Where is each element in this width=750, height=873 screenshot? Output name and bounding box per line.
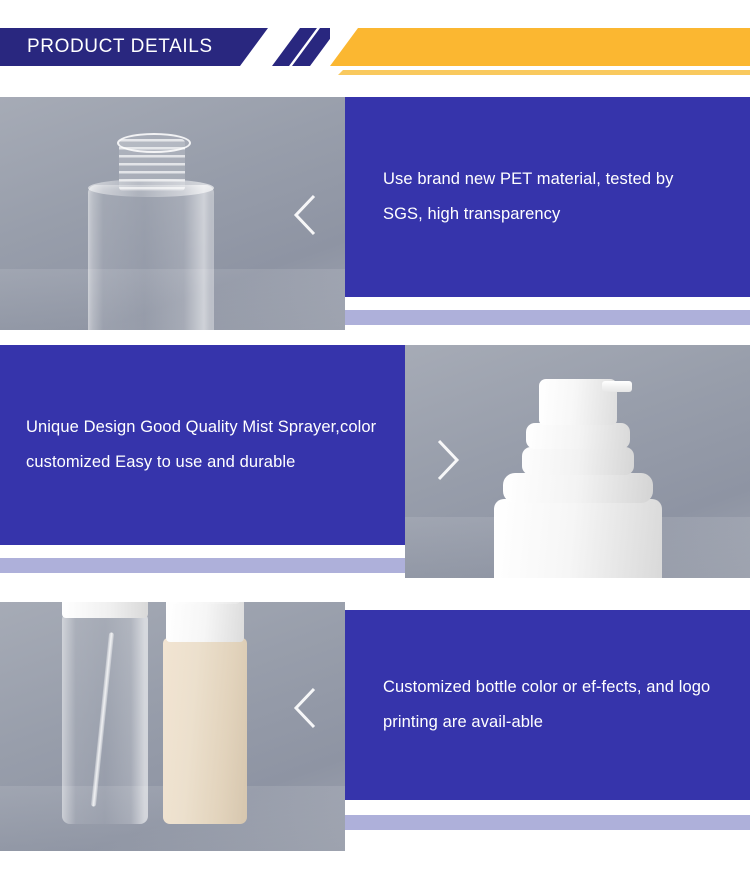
pump-collar-3 (503, 473, 653, 503)
pump-nozzle (602, 381, 632, 392)
chevron-left-icon (292, 193, 318, 237)
pump-collar-1 (526, 423, 630, 449)
beige-bottle-collar (170, 602, 240, 604)
pump-base (494, 499, 662, 578)
bottle-body (88, 185, 214, 330)
clear-bottle-cap (62, 602, 148, 618)
chevron-right-icon (435, 438, 461, 482)
beige-bottle (163, 638, 247, 824)
feature-text-panel-1: Use brand new PET material, tested by SG… (345, 97, 750, 297)
accent-bar-3 (345, 815, 750, 830)
feature-row-pet-material: Use brand new PET material, tested by SG… (0, 97, 750, 330)
product-details-banner: PRODUCT DETAILS (0, 28, 750, 76)
accent-bar-2 (0, 558, 405, 573)
bottle-rim (117, 133, 191, 153)
accent-bar-1 (345, 310, 750, 325)
banner-yellow-underline (338, 70, 750, 75)
feature-text-2: Unique Design Good Quality Mist Sprayer,… (26, 410, 379, 480)
feature-row-mist-sprayer: Unique Design Good Quality Mist Sprayer,… (0, 345, 750, 578)
banner-yellow-band (330, 28, 750, 66)
feature-text-panel-2: Unique Design Good Quality Mist Sprayer,… (0, 345, 405, 545)
page-title: PRODUCT DETAILS (27, 35, 213, 59)
chevron-left-icon (292, 686, 318, 730)
feature-text-1: Use brand new PET material, tested by SG… (383, 162, 712, 232)
feature-text-3: Customized bottle color or ef-fects, and… (383, 670, 712, 740)
beige-bottle-cap (166, 602, 244, 642)
feature-row-custom-color: Customized bottle color or ef-fects, and… (0, 602, 750, 851)
pump-collar-2 (522, 447, 634, 475)
feature-text-panel-3: Customized bottle color or ef-fects, and… (345, 610, 750, 800)
